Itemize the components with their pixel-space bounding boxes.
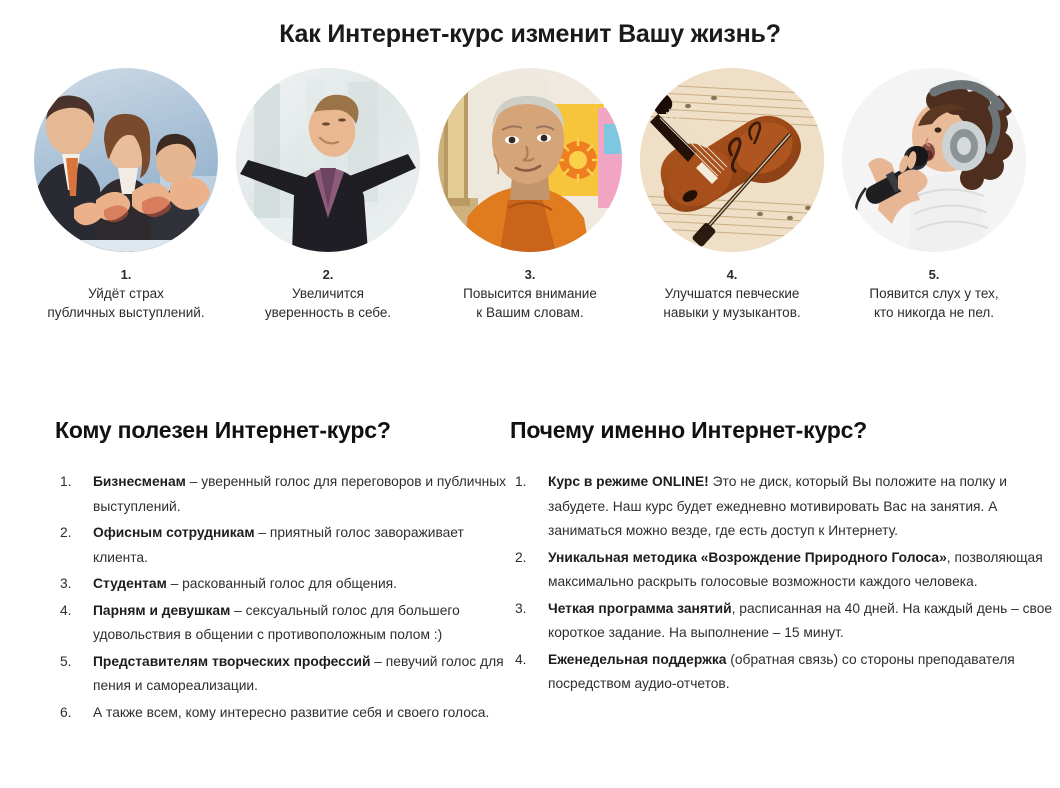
list-item: 1. Курс в режиме ONLINE! Это не диск, ко…: [510, 470, 1060, 544]
benefit-number: 1.: [121, 266, 132, 283]
list-item: 6. А также всем, кому интересно развитие…: [55, 701, 510, 726]
list-item: 1. Бизнесменам – уверенный голос для пер…: [55, 470, 510, 519]
benefit-text: Улучшатся певческие навыки у музыкантов.: [663, 284, 800, 322]
list-item: 4. Парням и девушкам – сексуальный голос…: [55, 599, 510, 648]
list-marker: 2.: [515, 546, 537, 571]
list-item-bold: Четкая программа занятий: [548, 601, 732, 616]
info-columns: Кому полезен Интернет-курс? 1. Бизнесмен…: [0, 417, 1060, 727]
right-column: Почему именно Интернет-курс? 1. Курс в р…: [510, 417, 1060, 727]
list-item: 2. Уникальная методика «Возрождение Прир…: [510, 546, 1060, 595]
list-marker: 4.: [60, 599, 82, 624]
right-column-heading: Почему именно Интернет-курс?: [510, 417, 1060, 444]
benefit-item: 4. Улучшатся певческие навыки у музыкант…: [634, 68, 830, 322]
benefit-number: 4.: [727, 266, 738, 283]
benefit-item: 1. Уйдёт страх публичных выступлений.: [28, 68, 224, 322]
list-marker: 1.: [515, 470, 537, 495]
right-column-list: 1. Курс в режиме ONLINE! Это не диск, ко…: [510, 470, 1060, 697]
business-people-applauding-photo: [34, 68, 218, 252]
benefit-item: 3. Повысится внимание к Вашим словам.: [432, 68, 628, 322]
benefit-text: Появится слух у тех, кто никогда не пел.: [869, 284, 998, 322]
list-item-bold: Представителям творческих профессий: [93, 654, 370, 669]
left-column: Кому полезен Интернет-курс? 1. Бизнесмен…: [0, 417, 510, 727]
list-item: 3. Четкая программа занятий, расписанная…: [510, 597, 1060, 646]
list-marker: 6.: [60, 701, 82, 726]
list-marker: 4.: [515, 648, 537, 673]
benefit-text: Повысится внимание к Вашим словам.: [463, 284, 597, 322]
benefit-item: 5. Появится слух у тех, кто никогда не п…: [836, 68, 1032, 322]
list-item-bold: Курс в режиме ONLINE!: [548, 474, 709, 489]
man-arms-outstretched-photo: [236, 68, 420, 252]
benefit-number: 3.: [525, 266, 536, 283]
benefit-text: Уйдёт страх публичных выступлений.: [47, 284, 204, 322]
list-marker: 5.: [60, 650, 82, 675]
list-marker: 1.: [60, 470, 82, 495]
left-column-heading: Кому полезен Интернет-курс?: [55, 417, 510, 444]
list-item: 5. Представителям творческих профессий –…: [55, 650, 510, 699]
list-item-bold: Офисным сотрудникам: [93, 525, 255, 540]
list-item-rest: А также всем, кому интересно развитие се…: [93, 705, 489, 720]
buddhist-monk-portrait-photo: [438, 68, 622, 252]
benefit-item: 2. Увеличится уверенность в себе.: [230, 68, 426, 322]
benefit-text: Увеличится уверенность в себе.: [265, 284, 391, 322]
violin-on-sheet-music-photo: [640, 68, 824, 252]
list-marker: 3.: [60, 572, 82, 597]
child-singing-microphone-photo: [842, 68, 1026, 252]
benefits-strip: 1. Уйдёт страх публичных выступлений.: [0, 54, 1060, 322]
list-item-bold: Еженедельная поддержка: [548, 652, 726, 667]
list-item: 3. Студентам – раскованный голос для общ…: [55, 572, 510, 597]
list-marker: 2.: [60, 521, 82, 546]
page-title: Как Интернет-курс изменит Вашу жизнь?: [0, 0, 1060, 54]
benefit-number: 2.: [323, 266, 334, 283]
list-item-rest: – раскованный голос для общения.: [167, 576, 397, 591]
list-item-bold: Студентам: [93, 576, 167, 591]
list-marker: 3.: [515, 597, 537, 622]
list-item-bold: Уникальная методика «Возрождение Природн…: [548, 550, 947, 565]
left-column-list: 1. Бизнесменам – уверенный голос для пер…: [55, 470, 510, 725]
list-item-bold: Бизнесменам: [93, 474, 186, 489]
list-item: 2. Офисным сотрудникам – приятный голос …: [55, 521, 510, 570]
benefit-number: 5.: [929, 266, 940, 283]
list-item: 4. Еженедельная поддержка (обратная связ…: [510, 648, 1060, 697]
list-item-bold: Парням и девушкам: [93, 603, 230, 618]
